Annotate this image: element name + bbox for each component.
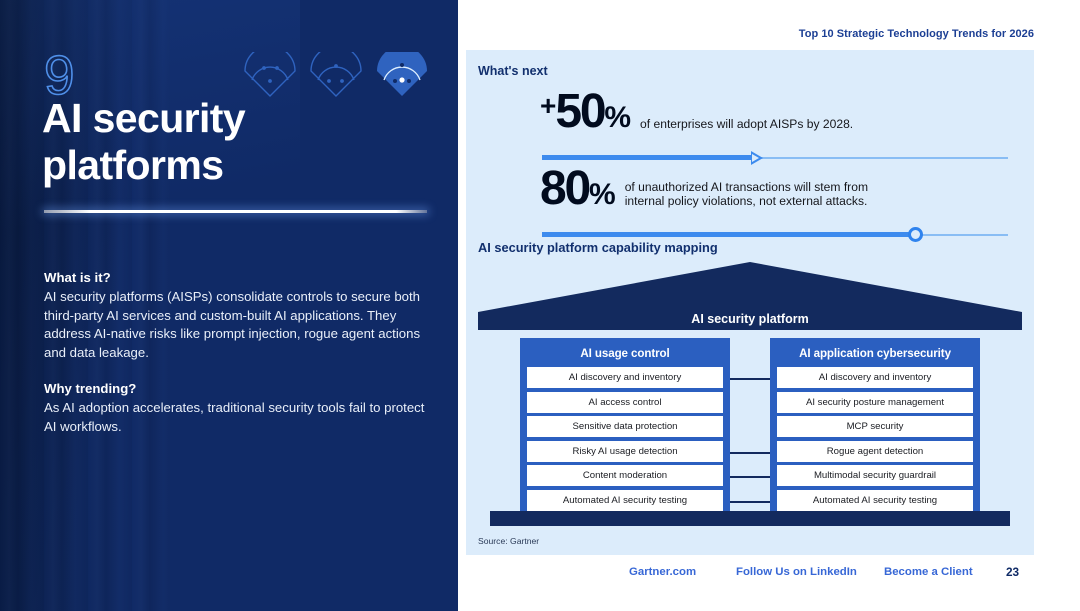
stat-number: 80% — [540, 165, 615, 213]
stat-block: +50% of enterprises will adopt AISPs by … — [466, 88, 1034, 166]
capability-item[interactable]: MCP security — [777, 416, 973, 437]
stat-description: of enterprises will adopt AISPs by 2028. — [640, 117, 853, 136]
left-title-panel: 9 — [0, 0, 458, 611]
capability-item[interactable]: AI discovery and inventory — [777, 367, 973, 388]
capability-item[interactable]: Sensitive data protection — [527, 416, 723, 437]
capability-item[interactable]: AI security posture management — [777, 392, 973, 413]
stat-unit: % — [589, 178, 615, 211]
stat-number: +50% — [540, 88, 630, 136]
page-title: AI security platforms — [42, 95, 442, 189]
capability-item[interactable]: Automated AI security testing — [777, 490, 973, 511]
page-number: 23 — [1006, 565, 1019, 579]
content-panel: What's next +50% of enterprises will ado… — [466, 50, 1034, 555]
capability-item[interactable]: Automated AI security testing — [527, 490, 723, 511]
footer-link-become-client[interactable]: Become a Client — [884, 566, 973, 578]
progress-fill — [542, 232, 915, 237]
capability-item[interactable]: Multimodal security guardrail — [777, 465, 973, 486]
body-spacer — [44, 362, 426, 379]
page-title-line-2: platforms — [42, 142, 442, 189]
what-is-it-heading: What is it? — [44, 268, 426, 287]
stat-prefix: + — [540, 90, 555, 121]
connector-line — [730, 476, 770, 478]
footer-link-gartner[interactable]: Gartner.com — [629, 566, 696, 578]
capability-item[interactable]: AI access control — [527, 392, 723, 413]
column-ai-usage-control: AI usage control AI discovery and invent… — [520, 338, 730, 518]
capability-item[interactable]: Rogue agent detection — [777, 441, 973, 462]
roof-label: AI security platform — [691, 312, 808, 326]
connector-line — [730, 452, 770, 454]
title-divider — [44, 210, 427, 213]
diagram-title: AI security platform capability mapping — [478, 240, 718, 255]
fan-dome-outline-icon — [308, 52, 364, 98]
left-body-copy: What is it? AI security platforms (AISPs… — [44, 268, 426, 437]
whats-next-label: What's next — [478, 64, 548, 78]
capability-item[interactable]: AI discovery and inventory — [527, 367, 723, 388]
capability-item[interactable]: Risky AI usage detection — [527, 441, 723, 462]
footer-link-linkedin[interactable]: Follow Us on LinkedIn — [736, 566, 857, 578]
connector-line — [730, 378, 770, 380]
column-title: AI application cybersecurity — [777, 344, 973, 367]
what-is-it-body: AI security platforms (AISPs) consolidat… — [44, 288, 426, 362]
circle-marker-icon — [908, 227, 923, 242]
fan-dome-filled-icon — [374, 52, 430, 98]
fan-dome-outline-icon — [242, 52, 298, 98]
roof-shape: AI security platform — [478, 262, 1022, 330]
source-note: Source: Gartner — [478, 536, 539, 546]
page-title-line-1: AI security — [42, 95, 442, 142]
progress-fill — [542, 155, 752, 160]
connector-line — [730, 501, 770, 503]
stat-value: 50 — [555, 85, 604, 138]
progress-bar — [542, 150, 1008, 166]
column-ai-application-cybersecurity: AI application cybersecurity AI discover… — [770, 338, 980, 518]
diagram-base-bar — [490, 511, 1010, 526]
capability-item[interactable]: Content moderation — [527, 465, 723, 486]
column-title: AI usage control — [527, 344, 723, 367]
why-trending-body: As AI adoption accelerates, traditional … — [44, 399, 426, 436]
stat-description: of unauthorized AI transactions will ste… — [625, 180, 895, 213]
stat-unit: % — [604, 101, 630, 134]
capability-mapping-diagram: AI security platform AI usage control AI… — [478, 262, 1022, 524]
stat-block: 80% of unauthorized AI transactions will… — [466, 165, 1034, 243]
fan-icon-group — [242, 52, 430, 98]
stat-value: 80 — [540, 162, 589, 215]
arrow-marker-icon — [751, 151, 763, 165]
report-header-title: Top 10 Strategic Technology Trends for 2… — [799, 28, 1034, 40]
why-trending-heading: Why trending? — [44, 379, 426, 398]
slide-root: 9 — [0, 0, 1080, 611]
